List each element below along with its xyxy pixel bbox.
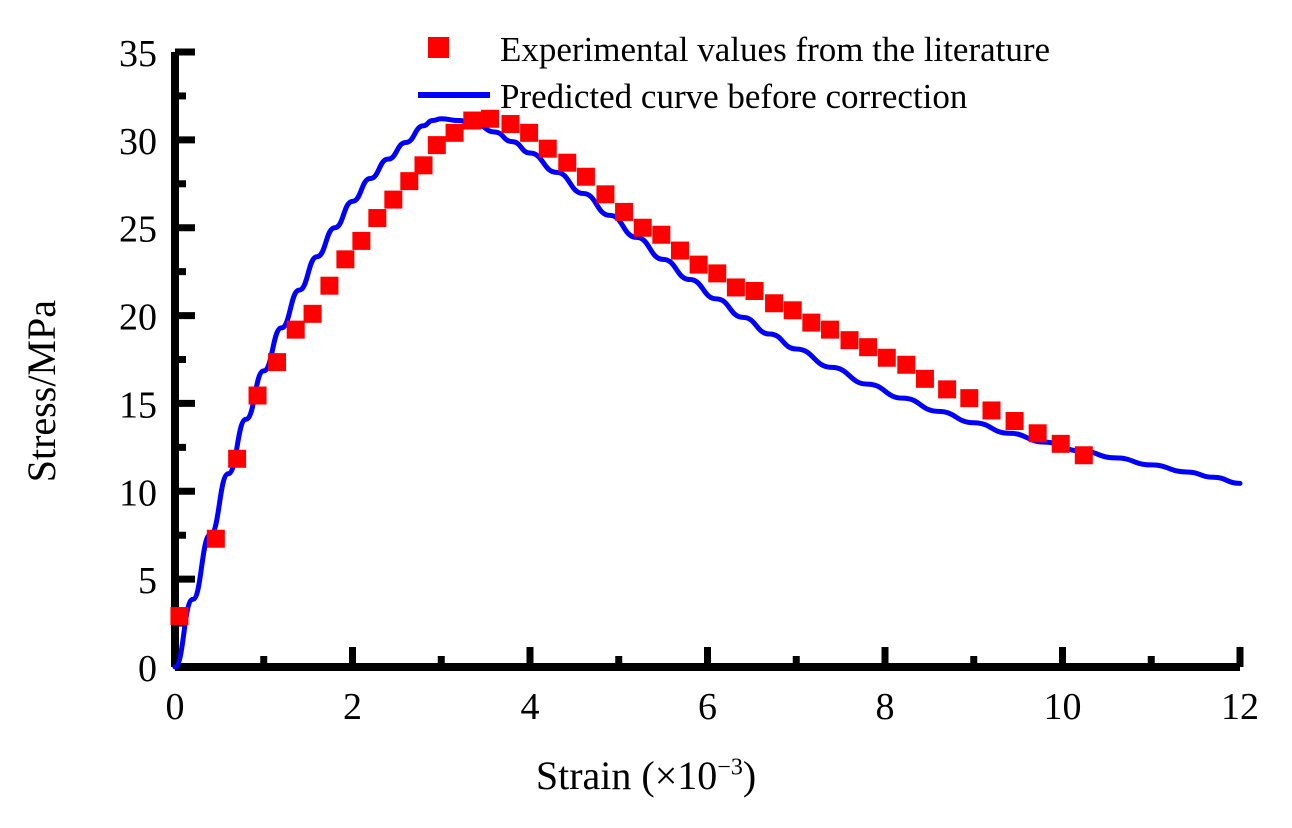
data-point-marker [960,389,978,407]
data-point-marker [228,450,246,468]
data-point-marker [878,349,896,367]
y-tick-label: 20 [119,297,157,339]
x-tick-label: 8 [876,686,895,728]
data-point-marker [596,185,614,203]
data-point-marker [287,321,305,339]
y-tick-label: 25 [119,209,157,251]
data-point-marker [784,301,802,319]
y-tick-labels: 05101520253035 [119,33,157,690]
chart-figure: 024681012 05101520253035 Experimental va… [0,0,1292,828]
data-point-marker [821,321,839,339]
legend-label-predicted: Predicted curve before correction [500,77,967,116]
data-point-marker [671,242,689,260]
data-point-marker [938,380,956,398]
data-point-marker [520,124,538,142]
x-axis-label-base: Strain (×10 [536,753,717,798]
y-tick-label: 10 [119,472,157,514]
data-point-marker [304,305,322,323]
data-point-marker [446,124,464,142]
stress-strain-plot: 024681012 05101520253035 Experimental va… [0,0,1292,828]
data-point-marker [652,226,670,244]
y-tick-label: 30 [119,121,157,163]
data-point-marker [207,530,225,548]
data-point-marker [765,294,783,312]
x-axis-label: Strain (×10−3) [0,752,1292,799]
data-point-marker [170,607,188,625]
data-point-marker [415,156,433,174]
x-tick-label: 0 [166,686,185,728]
x-axis-label-exponent: −3 [717,755,743,781]
data-point-marker [558,154,576,172]
data-point-marker [400,172,418,190]
data-point-marker [368,209,386,227]
legend: Experimental values from the literatureP… [418,30,1050,116]
data-point-marker [320,277,338,295]
data-point-marker [268,353,286,371]
legend-swatch-experimental [428,37,449,58]
legend-label-experimental: Experimental values from the literature [500,30,1050,69]
x-tick-label: 2 [343,686,362,728]
data-point-marker [352,232,370,250]
x-tick-label: 4 [521,686,540,728]
data-point-marker [428,136,446,154]
data-point-marker [463,112,481,130]
y-tick-label: 5 [138,560,157,602]
y-tick-label: 0 [138,648,157,690]
data-point-marker [384,191,402,209]
data-point-marker [634,219,652,237]
data-point-marker [539,140,557,158]
x-tick-labels: 024681012 [166,686,1260,728]
data-point-marker [708,264,726,282]
data-point-marker [690,256,708,274]
data-point-marker [746,282,764,300]
data-point-marker [859,338,877,356]
data-point-marker [481,110,499,128]
data-point-marker [577,168,595,186]
data-point-marker [1052,435,1070,453]
data-point-marker [1075,446,1093,464]
data-point-marker [727,278,745,296]
data-point-marker [802,314,820,332]
y-axis-label: Stress/MPa [18,300,65,482]
data-point-marker [841,331,859,349]
y-tick-label: 15 [119,384,157,426]
data-point-marker [916,370,934,388]
predicted-curve-line [175,119,1240,667]
data-point-marker [249,387,267,405]
x-tick-label: 12 [1221,686,1259,728]
data-point-marker [1006,412,1024,430]
data-point-marker [1029,424,1047,442]
data-point-marker [501,115,519,133]
x-tick-label: 6 [698,686,717,728]
y-tick-label: 35 [119,33,157,75]
data-point-marker [615,203,633,221]
data-point-marker [897,356,915,374]
data-point-marker [336,250,354,268]
data-point-marker [983,401,1001,419]
x-tick-label: 10 [1044,686,1082,728]
experimental-points-series [170,110,1092,625]
predicted-curve-series [175,119,1240,667]
x-axis-label-tail: ) [743,753,756,798]
axes [175,52,1240,667]
